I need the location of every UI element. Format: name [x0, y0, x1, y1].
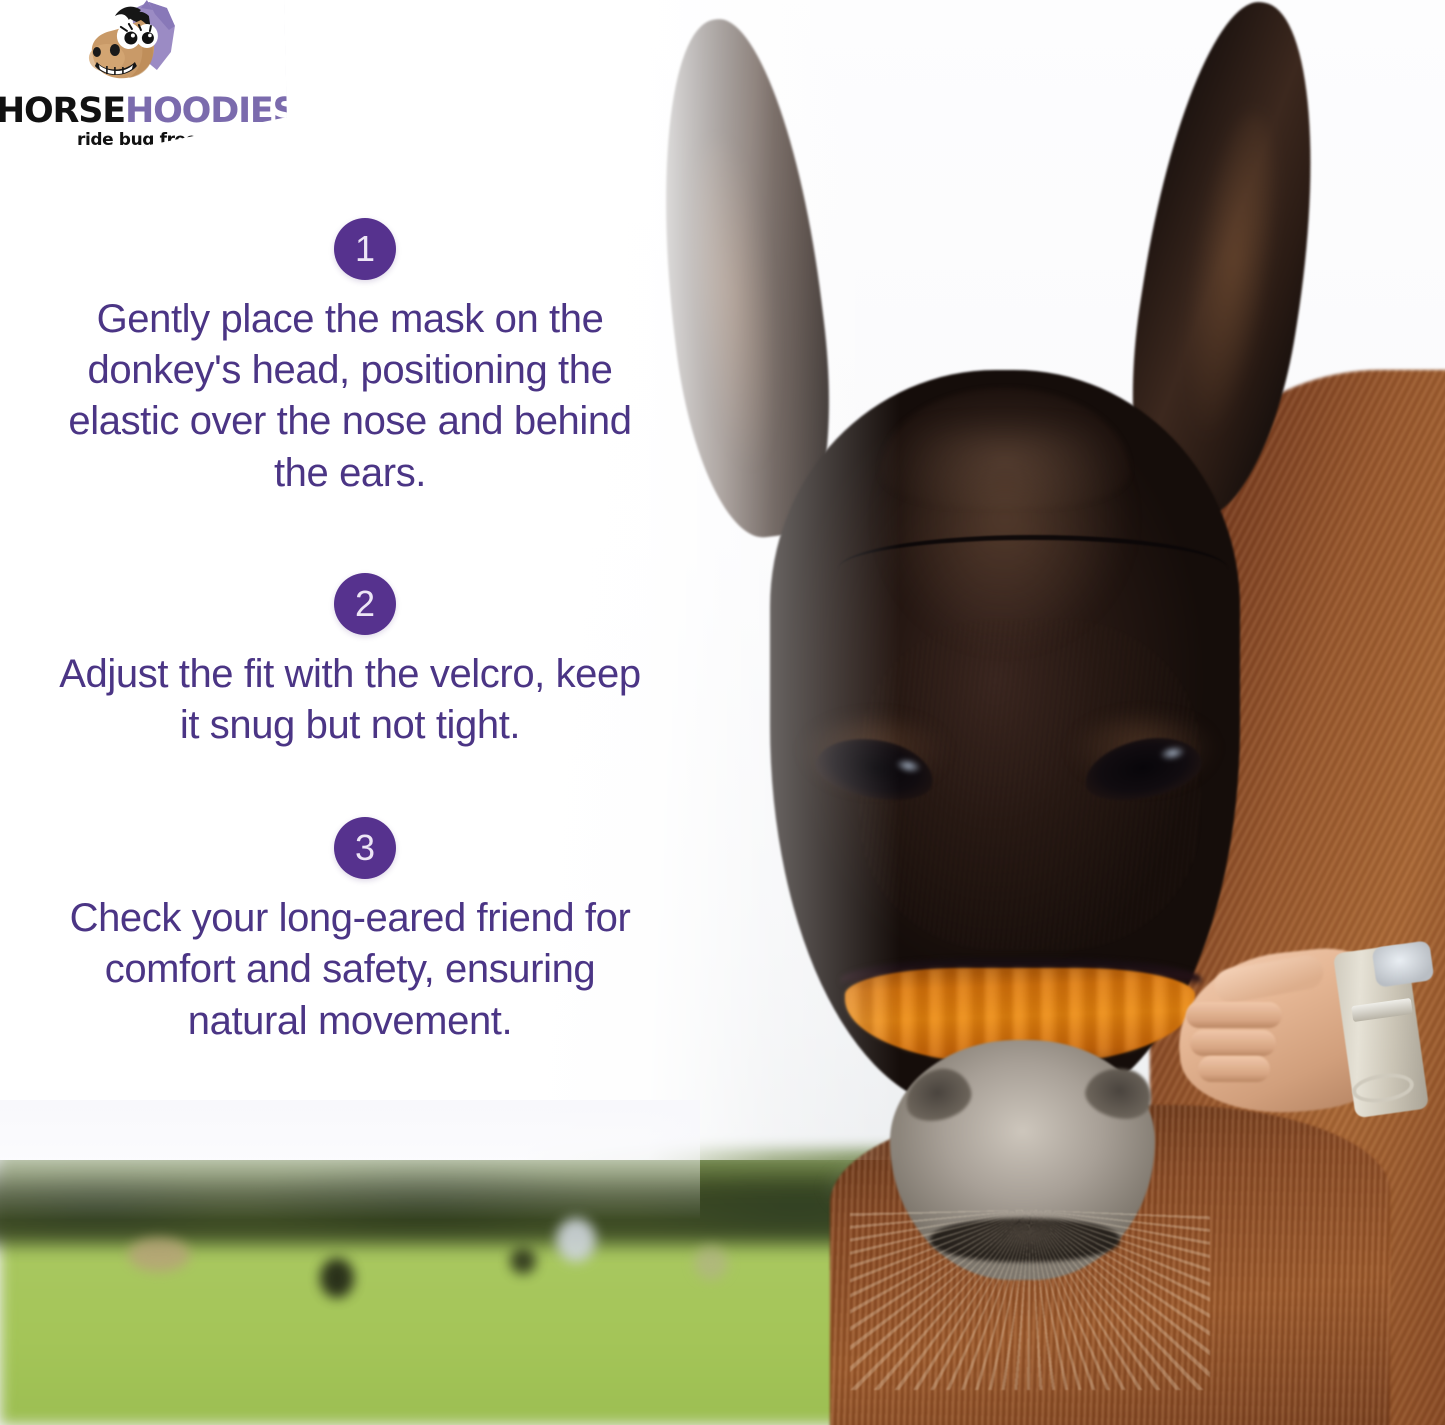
eye-glint: [894, 756, 922, 775]
steps-list: 1 Gently place the mask on the donkey's …: [0, 218, 700, 1047]
step-item-1: 1 Gently place the mask on the donkey's …: [0, 218, 700, 499]
ear-inner: [1166, 107, 1291, 445]
hand-finger: [1198, 1056, 1270, 1082]
brand-tagline: ride bug free: [0, 130, 278, 150]
eye-glint: [1158, 744, 1186, 763]
step-text-3: Check your long-eared friend for comfort…: [0, 893, 700, 1047]
promo-infographic: HORSEHOODIES ride bug free 1 Gently plac…: [0, 0, 1445, 1425]
step-text-1: Gently place the mask on the donkey's he…: [0, 294, 700, 499]
horse-mascot-icon: [71, 0, 203, 92]
brand-logo-card[interactable]: HORSEHOODIES ride bug free: [0, 0, 288, 178]
wristwatch-face: [1371, 940, 1434, 988]
step-number-badge-1: 1: [334, 218, 396, 280]
wordmark-hoodies: HOODIES: [125, 91, 297, 131]
brand-wordmark: HORSEHOODIES: [0, 94, 278, 129]
step-number-badge-3: 3: [334, 817, 396, 879]
hand-finger: [1186, 1002, 1282, 1028]
step-number-badge-2: 2: [334, 573, 396, 635]
wordmark-horse: HORSE: [0, 91, 125, 131]
step-item-2: 2 Adjust the fit with the velcro, keep i…: [0, 573, 700, 751]
hand-finger: [1190, 1030, 1276, 1056]
instructions-panel: HORSEHOODIES ride bug free 1 Gently plac…: [0, 0, 700, 1425]
donkey-whiskers: [850, 1210, 1210, 1390]
step-text-2: Adjust the fit with the velcro, keep it …: [0, 649, 700, 751]
brand-logo-inner: HORSEHOODIES ride bug free: [0, 0, 278, 150]
step-item-3: 3 Check your long-eared friend for comfo…: [0, 817, 700, 1047]
